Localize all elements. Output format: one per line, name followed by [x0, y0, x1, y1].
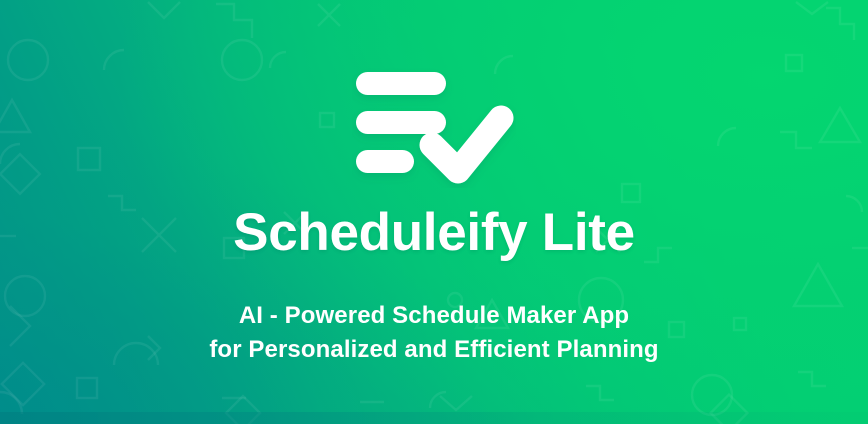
page-title: Scheduleify Lite [0, 204, 868, 261]
tagline-line-1: AI - Powered Schedule Maker App [0, 299, 868, 333]
app-promo-banner: Scheduleify Lite AI - Powered Schedule M… [0, 0, 868, 424]
banner-text-block: Scheduleify Lite AI - Powered Schedule M… [0, 204, 868, 367]
bottom-shade-band [0, 412, 868, 424]
checklist-check-logo-icon [352, 66, 516, 188]
app-logo [0, 66, 868, 188]
tagline-line-2: for Personalized and Efficient Planning [0, 333, 868, 367]
tagline: AI - Powered Schedule Maker App for Pers… [0, 261, 868, 367]
